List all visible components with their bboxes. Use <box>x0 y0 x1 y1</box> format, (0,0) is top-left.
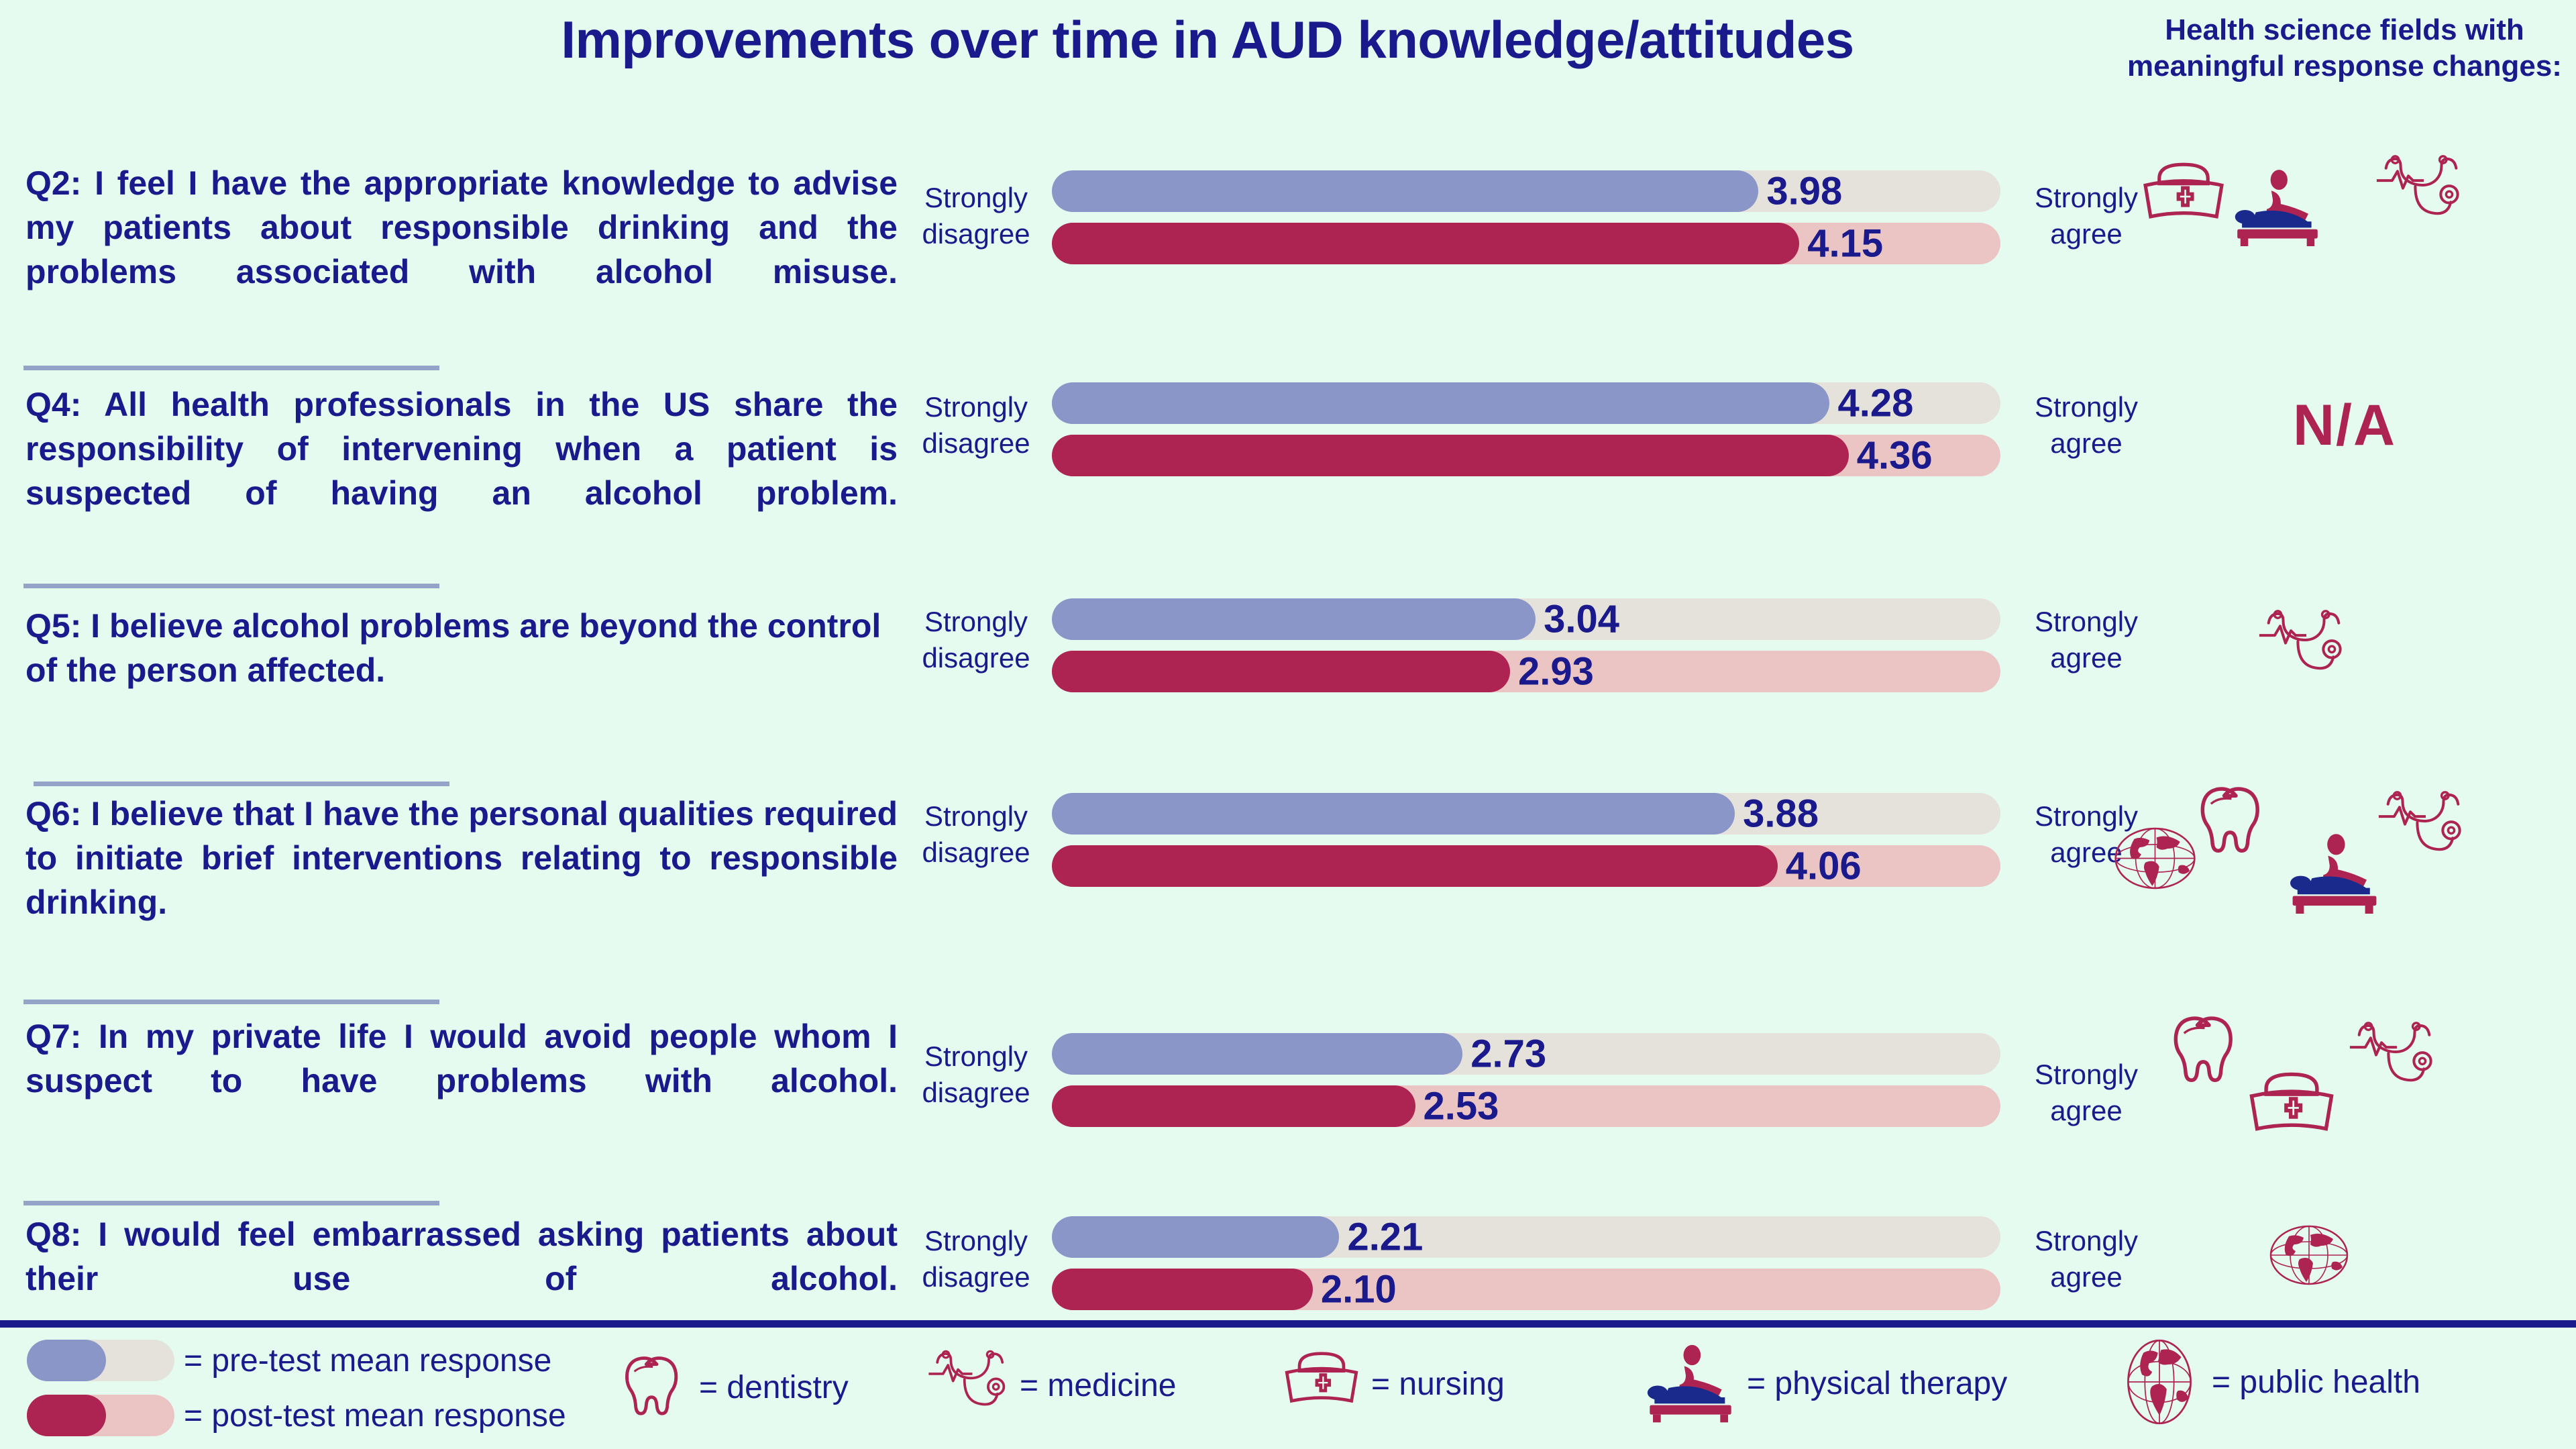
question-text: Q8: I would feel embarrassed asking pati… <box>25 1212 898 1301</box>
post-test-value: 4.15 <box>1799 221 1883 266</box>
pre-test-bar <box>1052 170 1758 212</box>
globe-icon <box>2269 1224 2349 1286</box>
pre-test-track: 4.28 <box>1052 382 2000 424</box>
globe-icon <box>2116 1338 2202 1426</box>
post-test-value: 2.10 <box>1313 1267 1397 1312</box>
stethoscope-icon <box>2371 154 2465 231</box>
legend-item-public-health: = public health <box>2116 1338 2420 1426</box>
table-row: Q7: In my private life I would avoid peo… <box>0 1020 2576 1218</box>
pre-test-value: 2.73 <box>1462 1032 1546 1077</box>
anchor-low-label: Strongly disagree <box>909 798 1043 871</box>
bar-group: 2.21 2.10 <box>1052 1216 2000 1310</box>
row-separator <box>23 1000 439 1004</box>
stethoscope-icon <box>924 1348 1010 1423</box>
question-text: Q4: All health professionals in the US s… <box>25 382 898 515</box>
post-test-value: 2.53 <box>1415 1084 1499 1129</box>
pre-test-bar <box>1052 598 1536 640</box>
row-separator <box>23 584 439 588</box>
legend-item-nursing: = nursing <box>1281 1350 1505 1417</box>
field-icon-cell <box>2113 785 2576 906</box>
post-test-bar <box>1052 845 1778 887</box>
bar-group: 4.28 4.36 <box>1052 382 2000 476</box>
stethoscope-icon <box>2254 609 2348 686</box>
post-test-track: 2.53 <box>1052 1085 2000 1127</box>
tooth-icon <box>624 1352 690 1423</box>
row-separator <box>23 366 439 370</box>
nurse-cap-icon <box>2140 161 2227 235</box>
legend-label: = dentistry <box>699 1369 849 1406</box>
row-separator <box>34 782 449 786</box>
pre-test-bar <box>1052 1216 1339 1258</box>
legend-label: = post-test mean response <box>184 1397 566 1434</box>
pre-test-track: 3.88 <box>1052 793 2000 835</box>
anchor-low-label: Strongly disagree <box>909 1223 1043 1295</box>
field-icon-cell: N/A <box>2113 392 2576 459</box>
pre-test-value: 3.98 <box>1758 169 1842 214</box>
table-row: Q2: I feel I have the appropriate knowle… <box>0 161 2576 382</box>
pre-test-track: 2.73 <box>1052 1033 2000 1075</box>
legend-item-medicine: = medicine <box>924 1348 1176 1423</box>
field-icon-cell <box>2113 1215 2576 1295</box>
table-row: Q4: All health professionals in the US s… <box>0 382 2576 604</box>
stethoscope-icon <box>2373 790 2467 867</box>
legend-label: = pre-test mean response <box>184 1342 551 1379</box>
post-test-bar <box>1052 1085 1415 1127</box>
field-icon-cell <box>2113 1012 2576 1132</box>
post-test-swatch <box>27 1395 174 1436</box>
physical-therapy-icon <box>1644 1344 1737 1423</box>
page-title: Improvements over time in AUD knowledge/… <box>349 12 2066 68</box>
nurse-cap-icon <box>2245 1071 2339 1148</box>
post-test-track: 2.93 <box>1052 651 2000 692</box>
not-applicable-label: N/A <box>2113 392 2576 459</box>
pre-test-value: 3.88 <box>1735 792 1819 837</box>
question-text: Q7: In my private life I would avoid peo… <box>25 1014 898 1103</box>
table-row: Q6: I believe that I have the personal q… <box>0 798 2576 1020</box>
post-test-track: 4.06 <box>1052 845 2000 887</box>
pre-test-bar <box>1052 382 1829 424</box>
post-test-track: 2.10 <box>1052 1269 2000 1310</box>
stethoscope-icon <box>2345 1021 2438 1098</box>
post-test-bar <box>1052 223 1799 264</box>
physical-therapy-icon <box>2284 833 2385 914</box>
pre-test-bar <box>1052 1033 1462 1075</box>
pre-test-value: 2.21 <box>1339 1215 1423 1260</box>
physical-therapy-icon <box>2231 169 2324 246</box>
icon-column-title: Health science fields with meaningful re… <box>2113 12 2576 84</box>
bar-group: 3.04 2.93 <box>1052 598 2000 692</box>
legend-item-post-test: = post-test mean response <box>27 1395 566 1436</box>
legend-item-pre-test: = pre-test mean response <box>27 1340 551 1381</box>
legend-item-physical-therapy: = physical therapy <box>1644 1344 2007 1423</box>
legend-label: = physical therapy <box>1747 1365 2007 1402</box>
infographic-canvas: Improvements over time in AUD knowledge/… <box>0 0 2576 1449</box>
field-icon-cell <box>2113 597 2576 704</box>
legend-item-dentistry: = dentistry <box>624 1352 849 1423</box>
anchor-low-label: Strongly disagree <box>909 1038 1043 1111</box>
post-test-track: 4.36 <box>1052 435 2000 476</box>
pre-test-value: 3.04 <box>1536 597 1619 642</box>
post-test-bar <box>1052 435 1849 476</box>
post-test-track: 4.15 <box>1052 223 2000 264</box>
pre-test-track: 3.04 <box>1052 598 2000 640</box>
question-text: Q2: I feel I have the appropriate knowle… <box>25 161 898 294</box>
post-test-value: 2.93 <box>1510 649 1594 694</box>
pre-test-track: 2.21 <box>1052 1216 2000 1258</box>
legend-divider <box>0 1320 2576 1328</box>
question-text: Q6: I believe that I have the personal q… <box>25 792 898 924</box>
post-test-value: 4.36 <box>1849 433 1933 478</box>
post-test-value: 4.06 <box>1778 844 1862 889</box>
pre-test-swatch <box>27 1340 174 1381</box>
anchor-low-label: Strongly disagree <box>909 604 1043 676</box>
globe-icon <box>2113 826 2197 890</box>
post-test-bar <box>1052 651 1510 692</box>
legend-label: = medicine <box>1020 1367 1176 1404</box>
legend: = pre-test mean response = post-test mea… <box>0 1328 2576 1449</box>
question-text: Q5: I believe alcohol problems are beyon… <box>25 604 898 692</box>
anchor-low-label: Strongly disagree <box>909 389 1043 462</box>
tooth-icon <box>2199 786 2273 857</box>
legend-label: = public health <box>2212 1364 2420 1401</box>
pre-test-bar <box>1052 793 1735 835</box>
anchor-low-label: Strongly disagree <box>909 180 1043 252</box>
pre-test-track: 3.98 <box>1052 170 2000 212</box>
pre-test-value: 4.28 <box>1829 381 1913 426</box>
question-rows: Q2: I feel I have the appropriate knowle… <box>0 161 2576 1365</box>
bar-group: 2.73 2.53 <box>1052 1033 2000 1127</box>
table-row: Q5: I believe alcohol problems are beyon… <box>0 604 2576 798</box>
legend-label: = nursing <box>1371 1366 1505 1403</box>
tooth-icon <box>2172 1016 2246 1086</box>
bar-group: 3.98 4.15 <box>1052 170 2000 264</box>
row-separator <box>23 1201 439 1205</box>
nurse-cap-icon <box>1281 1350 1362 1417</box>
post-test-bar <box>1052 1269 1313 1310</box>
bar-group: 3.88 4.06 <box>1052 793 2000 887</box>
field-icon-cell <box>2113 154 2576 262</box>
